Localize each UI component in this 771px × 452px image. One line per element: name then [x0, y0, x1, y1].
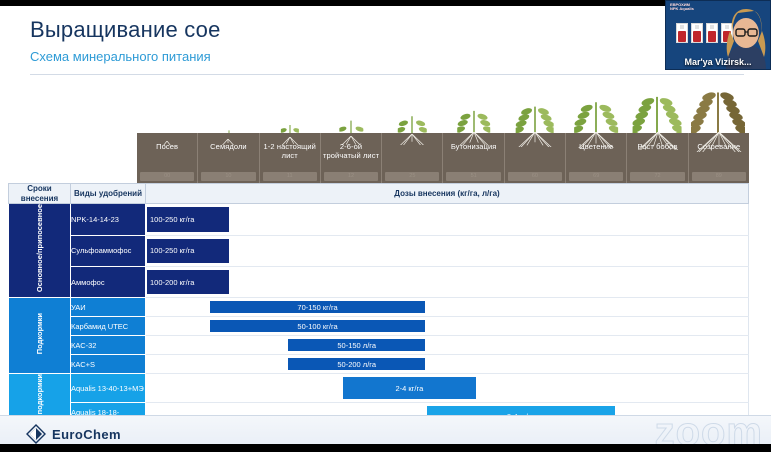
table-row[interactable]: ПодкормкиУАИ70-150 кг/га [9, 298, 749, 317]
header-fertilizer-types: Виды удобрений [71, 184, 146, 204]
plant-stage-illustration [198, 80, 259, 140]
dose-chip: 100-250 кг/га [146, 206, 230, 232]
fertilizer-name-cell: Карбамид UTEC [71, 317, 146, 336]
group-label-cell: Основное/припосевное [9, 204, 71, 298]
table-header: Сроки внесения Виды удобрений Дозы внесе… [9, 184, 749, 204]
table-row[interactable]: КАС-3250-150 л/га [9, 336, 749, 355]
plant-stage-illustration [688, 80, 749, 140]
root-illustration [339, 132, 363, 150]
stage-code-badge: 25 [385, 172, 439, 181]
root-icon [280, 137, 299, 145]
dose-cell: 100-200 кг/га [146, 266, 749, 297]
stage-code-badge: 00 [140, 172, 194, 181]
table-row[interactable]: Листовые подкормкиAqualis 13-40-13+МЭ2-4… [9, 374, 749, 403]
root-illustration [515, 132, 555, 152]
fertilizer-name-cell: Аммофос [71, 266, 146, 297]
fertilizer-name-cell: КАС-32 [71, 336, 146, 355]
participant-name-label: Mar'ya Vizirsk... [666, 57, 770, 67]
plant-stage-illustration [443, 80, 504, 140]
dose-bar-cell: 50-100 кг/га [146, 317, 749, 336]
dose-bar-cell: 70-150 кг/га [146, 298, 749, 317]
stage-code-badge: 60 [508, 172, 562, 181]
dose-bar-cell: 50-200 л/га [146, 355, 749, 374]
eurochem-logo: EuroChem [26, 424, 121, 444]
plant-stage-illustration [565, 80, 626, 140]
dose-bar: 50-150 л/га [287, 338, 425, 352]
table-row[interactable]: КАС+S50-200 л/га [9, 355, 749, 374]
webcam-tile[interactable]: ЕВРОХИМ NPK Aqualis Mar'ya Vizirsk... [665, 0, 771, 70]
stage-cell: 1-2 настоящий лист11 [260, 133, 321, 183]
table-row[interactable]: Карбамид UTEC50-100 кг/га [9, 317, 749, 336]
stage-code-badge: 72 [630, 172, 684, 181]
header-timing: Сроки внесения [9, 184, 71, 204]
stage-code-badge: 51 [446, 172, 500, 181]
plant-stage-illustration [259, 80, 320, 140]
root-icon [398, 134, 427, 145]
root-illustration [691, 132, 747, 157]
stage-code-badge: 12 [324, 172, 378, 181]
stage-cell: Цветение69 [566, 133, 627, 183]
stage-code-badge: 69 [569, 172, 623, 181]
dose-cell: 100-250 кг/га [146, 235, 749, 266]
root-illustration [456, 132, 491, 150]
stage-cell: 2-6-ой тройчатый лист12 [321, 133, 382, 183]
page-subtitle: Схема минерального питания [30, 49, 630, 64]
plant-stage-illustration [137, 80, 198, 140]
slide-footer: EuroChem [0, 415, 771, 444]
dose-bar-cell: 50-150 л/га [146, 336, 749, 355]
plant-stage-illustration [627, 80, 688, 140]
title-block: Выращивание сое Схема минерального питан… [30, 18, 630, 64]
dose-bar: 2-4 кг/га [342, 376, 477, 400]
fertilizer-name-cell: NPK-14-14-23 [71, 204, 146, 235]
root-icon [222, 139, 235, 145]
root-illustration [574, 132, 619, 153]
title-divider [30, 74, 744, 75]
fertilizer-name-cell: Aqualis 13-40-13+МЭ [71, 374, 146, 403]
root-icon [339, 136, 363, 145]
eurochem-diamond-icon [26, 424, 46, 444]
eurochem-logo-text: EuroChem [52, 427, 121, 442]
stage-cell: Посев00 [137, 133, 198, 183]
dose-bar-cell: 2-4 кг/га [146, 374, 749, 403]
table-row[interactable]: Аммофос100-200 кг/га [9, 266, 749, 297]
fertilization-table: Сроки внесения Виды удобрений Дозы внесе… [8, 183, 749, 444]
dose-chip: 100-250 кг/га [146, 238, 230, 264]
plant-stage-illustration [382, 80, 443, 140]
group-label-cell: Подкормки [9, 298, 71, 374]
stage-cell: Рост бобов72 [627, 133, 688, 183]
root-illustration [222, 132, 235, 150]
root-icon [691, 132, 747, 152]
stage-code-badge: 10 [201, 172, 255, 181]
fertilizer-name-cell: КАС+S [71, 355, 146, 374]
table-row[interactable]: Основное/припосевноеNPK-14-14-23100-250 … [9, 204, 749, 235]
group-label: Основное/припосевное [35, 204, 44, 292]
stage-cell: Семядоли10 [198, 133, 259, 183]
root-icon [163, 141, 171, 145]
stage-cell: 25 [382, 133, 443, 183]
dose-bar: 70-150 кг/га [209, 300, 426, 314]
root-illustration [398, 132, 427, 150]
fertilization-table-wrapper: Сроки внесения Виды удобрений Дозы внесе… [8, 183, 749, 415]
plant-stage-illustration [321, 80, 382, 140]
dose-bar: 50-200 л/га [287, 357, 425, 371]
fertilizer-name-cell: Сульфоаммофос [71, 235, 146, 266]
root-illustration [280, 132, 299, 150]
stage-cell: 60 [505, 133, 566, 183]
plant-illustration-strip [137, 80, 749, 140]
stage-cell: Бутонизация51 [443, 133, 504, 183]
root-illustration [632, 132, 683, 155]
root-icon [456, 132, 491, 145]
root-icon [515, 132, 555, 147]
root-icon [632, 132, 683, 150]
root-icon [574, 132, 619, 148]
root-illustration [163, 132, 171, 150]
growth-stage-timeline: Посев00Семядоли101-2 настоящий лист112-6… [137, 133, 749, 183]
presentation-slide: Выращивание сое Схема минерального питан… [0, 6, 771, 444]
stage-code-badge: 89 [692, 172, 746, 181]
table-row[interactable]: Сульфоаммофос100-250 кг/га [9, 235, 749, 266]
dose-chip: 100-200 кг/га [146, 269, 230, 295]
dose-cell: 100-250 кг/га [146, 204, 749, 235]
stage-code-badge: 11 [263, 172, 317, 181]
table-body: Основное/припосевноеNPK-14-14-23100-250 … [9, 204, 749, 444]
page-title: Выращивание сое [30, 18, 630, 42]
plant-stage-illustration [504, 80, 565, 140]
dose-bar: 50-100 кг/га [209, 319, 426, 333]
stage-cell: Созревание89 [689, 133, 749, 183]
header-doses: Дозы внесения (кг/га, л/га) [146, 184, 749, 204]
group-label: Подкормки [35, 313, 44, 354]
table-header-row: Сроки внесения Виды удобрений Дозы внесе… [9, 184, 749, 204]
screen-root: Выращивание сое Схема минерального питан… [0, 0, 771, 452]
fertilizer-name-cell: УАИ [71, 298, 146, 317]
